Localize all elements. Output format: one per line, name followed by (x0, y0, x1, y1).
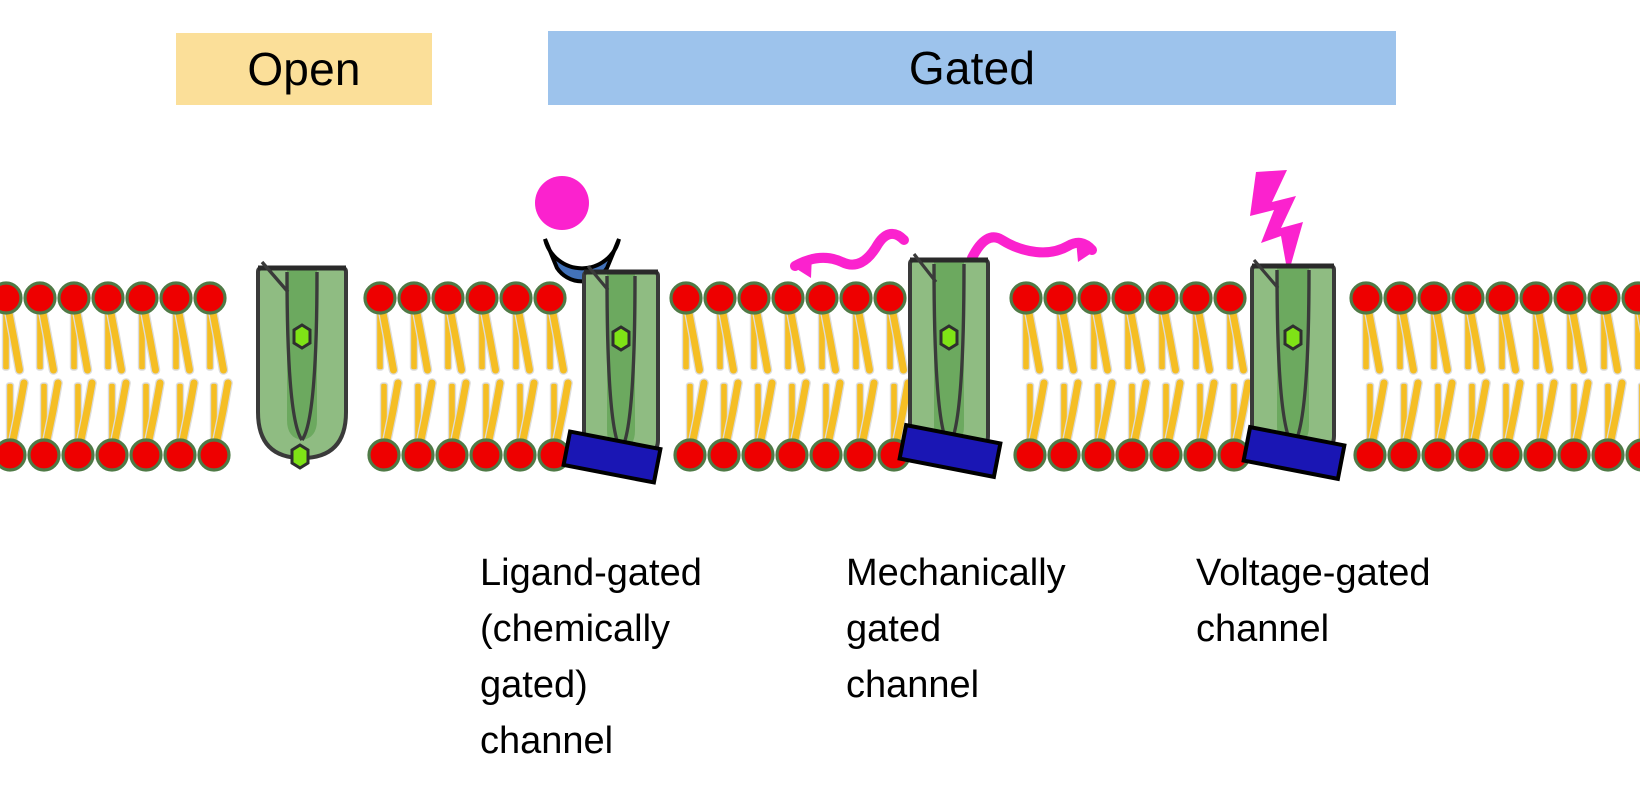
phospholipid-lower (1015, 383, 1045, 470)
ion-in-pore (1285, 326, 1301, 349)
phospholipid-lower (1525, 383, 1555, 470)
phospholipid-upper (0, 283, 21, 370)
phospholipid-lower (1559, 383, 1589, 470)
phospholipid-lower (1151, 383, 1181, 470)
phospholipid-upper (739, 283, 769, 370)
banner-gated: Gated (548, 31, 1396, 105)
phospholipid-upper (773, 283, 803, 370)
phospholipid-bilayer (0, 283, 1640, 470)
phospholipid-lower (437, 383, 467, 470)
phospholipid-upper (365, 283, 395, 370)
phospholipid-upper (195, 283, 225, 370)
phospholipid-lower (199, 383, 229, 470)
phospholipid-upper (1453, 283, 1483, 370)
phospholipid-upper (1487, 283, 1517, 370)
phospholipid-lower (811, 383, 841, 470)
phospholipid-upper (535, 283, 565, 370)
phospholipid-lower (1049, 383, 1079, 470)
ligand-molecule-icon (535, 176, 589, 230)
phospholipid-lower (165, 383, 195, 470)
phospholipid-upper (875, 283, 905, 370)
voltage-gated-channel[interactable] (1244, 170, 1345, 479)
phospholipid-lower (845, 383, 875, 470)
phospholipid-upper (1079, 283, 1109, 370)
caption-voltage-gated-channel: Voltage-gated channel (1196, 545, 1526, 657)
phospholipid-upper (1589, 283, 1619, 370)
phospholipid-upper (1385, 283, 1415, 370)
phospholipid-upper (705, 283, 735, 370)
phospholipid-upper (1351, 283, 1381, 370)
phospholipid-lower (0, 383, 25, 470)
phospholipid-lower (709, 383, 739, 470)
wave-arrow-right-icon (972, 237, 1096, 262)
phospholipid-lower (131, 383, 161, 470)
phospholipid-lower (1491, 383, 1521, 470)
phospholipid-upper (807, 283, 837, 370)
phospholipid-upper (1555, 283, 1585, 370)
phospholipid-lower (1389, 383, 1419, 470)
phospholipid-lower (1355, 383, 1385, 470)
phospholipid-lower (471, 383, 501, 470)
phospholipid-upper (127, 283, 157, 370)
phospholipid-upper (433, 283, 463, 370)
open-channel[interactable] (258, 262, 346, 468)
phospholipid-upper (1113, 283, 1143, 370)
phospholipid-lower (1457, 383, 1487, 470)
channel-pore (934, 260, 964, 446)
phospholipid-lower (505, 383, 535, 470)
phospholipid-upper (1181, 283, 1211, 370)
phospholipid-upper (161, 283, 191, 370)
phospholipid-lower (777, 383, 807, 470)
phospholipid-upper (671, 283, 701, 370)
phospholipid-upper (399, 283, 429, 370)
banner-gated-label: Gated (909, 45, 1035, 91)
phospholipid-upper (25, 283, 55, 370)
phospholipid-upper (59, 283, 89, 370)
phospholipid-upper (1011, 283, 1041, 370)
phospholipid-upper (1045, 283, 1075, 370)
wave-arrow-left-icon (792, 234, 904, 278)
channel-pore (287, 268, 317, 440)
phospholipid-lower (403, 383, 433, 470)
phospholipid-upper (1623, 283, 1640, 370)
channel-pore (607, 272, 635, 450)
phospholipid-upper (93, 283, 123, 370)
ion-in-pore (613, 327, 629, 350)
phospholipid-lower (1593, 383, 1623, 470)
caption-mechanically-gated-channel: Mechanically gated channel (846, 545, 1146, 713)
phospholipid-upper (1147, 283, 1177, 370)
ion-exiting-channel (292, 445, 308, 468)
phospholipid-lower (1185, 383, 1215, 470)
phospholipid-lower (1627, 383, 1640, 470)
phospholipid-lower (63, 383, 93, 470)
phospholipid-upper (501, 283, 531, 370)
banner-open: Open (176, 33, 432, 105)
phospholipid-lower (675, 383, 705, 470)
caption-ligand-gated-channel: Ligand-gated (chemically gated) channel (480, 545, 810, 769)
ion-in-pore (294, 325, 310, 348)
ion-in-pore (941, 326, 957, 349)
channel-pore (1277, 266, 1309, 446)
phospholipid-upper (1521, 283, 1551, 370)
phospholipid-lower (1423, 383, 1453, 470)
phospholipid-lower (1117, 383, 1147, 470)
ion-channel-diagram: Open Gated Ligand-gated (chemically gate… (0, 0, 1640, 788)
phospholipid-upper (841, 283, 871, 370)
phospholipid-lower (743, 383, 773, 470)
phospholipid-upper (467, 283, 497, 370)
diagram-canvas (0, 0, 1640, 788)
phospholipid-lower (369, 383, 399, 470)
phospholipid-lower (1083, 383, 1113, 470)
banner-open-label: Open (247, 46, 360, 92)
phospholipid-lower (29, 383, 59, 470)
phospholipid-upper (1215, 283, 1245, 370)
phospholipid-lower (97, 383, 127, 470)
lightning-bolt-icon (1250, 170, 1303, 275)
phospholipid-upper (1419, 283, 1449, 370)
